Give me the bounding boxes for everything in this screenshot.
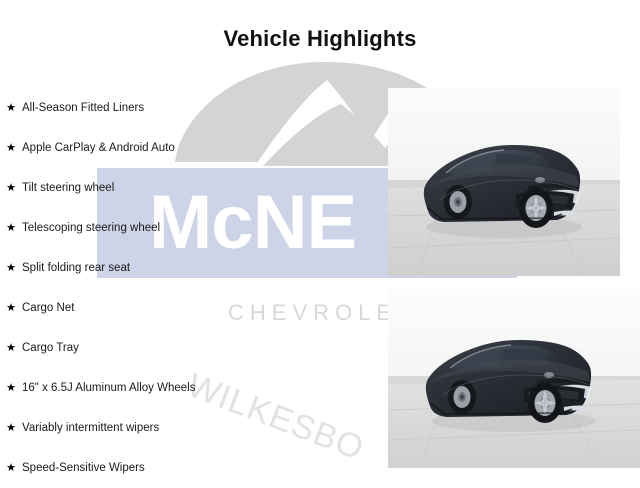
highlight-item-label: All-Season Fitted Liners xyxy=(22,102,300,114)
highlight-item: ★Speed-Sensitive Wipers xyxy=(0,448,300,488)
highlight-item-label: Speed-Sensitive Wipers xyxy=(22,462,300,474)
highlight-item: ★Tilt steering wheel xyxy=(0,168,300,208)
highlight-item-label: Cargo Tray xyxy=(22,342,300,354)
star-bullet-icon: ★ xyxy=(0,383,22,394)
highlight-item: ★Cargo Tray xyxy=(0,328,300,368)
highlight-item-label: 16" x 6.5J Aluminum Alloy Wheels xyxy=(22,382,300,394)
star-bullet-icon: ★ xyxy=(0,183,22,194)
highlight-item: ★Split folding rear seat xyxy=(0,248,300,288)
highlight-item-label: Variably intermittent wipers xyxy=(22,422,300,434)
star-bullet-icon: ★ xyxy=(0,263,22,274)
star-bullet-icon: ★ xyxy=(0,343,22,354)
highlight-item: ★Apple CarPlay & Android Auto xyxy=(0,128,300,168)
star-bullet-icon: ★ xyxy=(0,423,22,434)
star-bullet-icon: ★ xyxy=(0,103,22,114)
highlight-item-label: Cargo Net xyxy=(22,302,300,314)
highlight-item: ★Variably intermittent wipers xyxy=(0,408,300,448)
highlight-item-label: Tilt steering wheel xyxy=(22,182,300,194)
highlight-item: ★All-Season Fitted Liners xyxy=(0,88,300,128)
highlight-item: ★16" x 6.5J Aluminum Alloy Wheels xyxy=(0,368,300,408)
highlight-item-label: Apple CarPlay & Android Auto xyxy=(22,142,300,154)
star-bullet-icon: ★ xyxy=(0,303,22,314)
highlight-item: ★Cargo Net xyxy=(0,288,300,328)
highlight-item: ★Telescoping steering wheel xyxy=(0,208,300,248)
page-title: Vehicle Highlights xyxy=(0,26,640,52)
star-bullet-icon: ★ xyxy=(0,143,22,154)
highlight-item-label: Split folding rear seat xyxy=(22,262,300,274)
vehicle-highlights-list: ★All-Season Fitted Liners★Apple CarPlay … xyxy=(0,88,300,488)
vehicle-photo-front-three-quarter-top[interactable] xyxy=(388,88,620,276)
star-bullet-icon: ★ xyxy=(0,223,22,234)
vehicle-photo-front-three-quarter-bottom[interactable] xyxy=(388,288,640,468)
highlight-item-label: Telescoping steering wheel xyxy=(22,222,300,234)
star-bullet-icon: ★ xyxy=(0,463,22,474)
